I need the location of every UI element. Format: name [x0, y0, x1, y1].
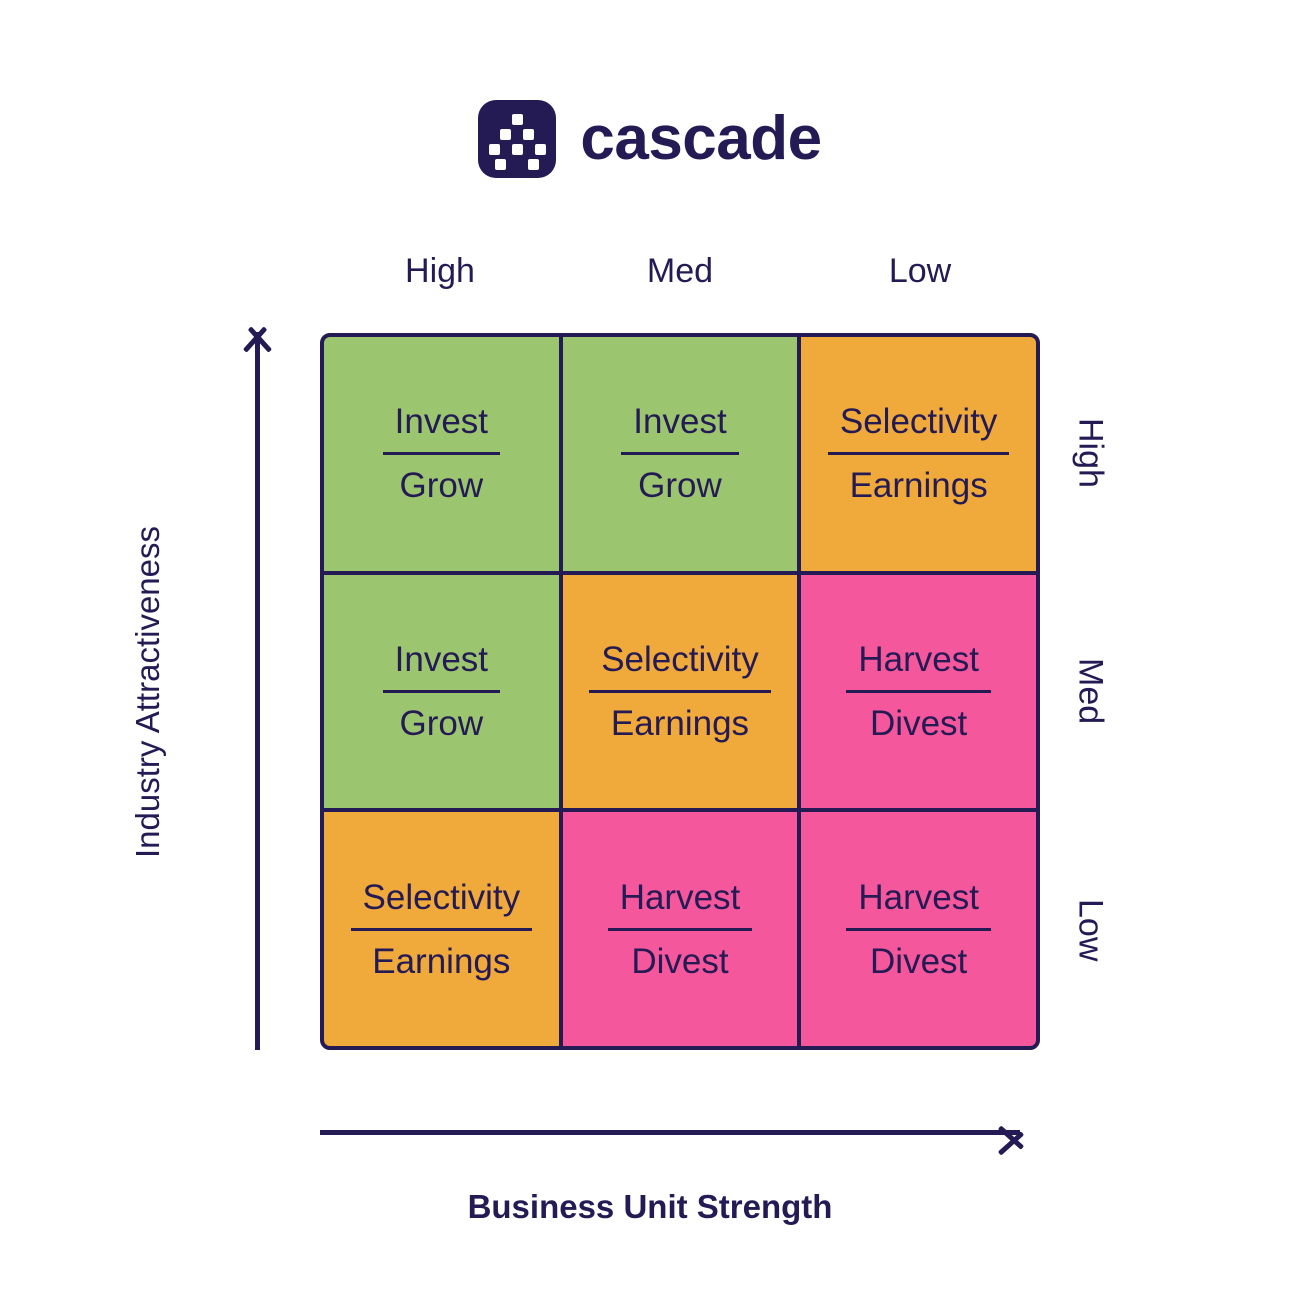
y-axis-shaft [255, 332, 260, 1050]
fraction-bar [383, 452, 500, 455]
row-label-med: Med [1071, 658, 1110, 724]
fraction-bar [589, 690, 771, 693]
fraction-bar [828, 452, 1010, 455]
arrow-up-icon [237, 318, 277, 1050]
matrix-cell-r2c1[interactable]: Harvest Divest [563, 812, 798, 1046]
x-axis-arrowhead [1006, 1116, 1042, 1150]
cell-denominator: Divest [619, 944, 740, 979]
cell-numerator: Invest [621, 404, 738, 439]
cell-fraction: Invest Grow [383, 642, 500, 741]
brand-header: cascade [0, 100, 1300, 178]
cascade-pyramid-dots-icon [478, 100, 556, 178]
fraction-bar [608, 928, 753, 931]
cell-numerator: Invest [383, 404, 500, 439]
matrix-cell-r1c1[interactable]: Selectivity Earnings [563, 575, 798, 809]
matrix-cell-r1c0[interactable]: Invest Grow [324, 575, 559, 809]
fraction-bar [846, 928, 991, 931]
cell-fraction: Invest Grow [383, 404, 500, 503]
row-label-med-wrap: Med [1060, 572, 1120, 811]
column-header-low: Low [800, 252, 1040, 291]
row-label-low: Low [1071, 899, 1110, 961]
row-label-high-wrap: High [1060, 333, 1120, 572]
cell-numerator: Harvest [846, 880, 991, 915]
matrix-cell-r2c0[interactable]: Selectivity Earnings [324, 812, 559, 1046]
cell-denominator: Divest [858, 944, 979, 979]
fraction-bar [846, 690, 991, 693]
cell-fraction: Harvest Divest [846, 880, 991, 979]
cell-fraction: Invest Grow [621, 404, 738, 503]
x-axis-shaft [320, 1130, 1020, 1135]
cell-numerator: Harvest [846, 642, 991, 677]
ge-mckinsey-matrix: Invest Grow Invest Grow Selectivity Earn… [320, 333, 1040, 1050]
cell-numerator: Selectivity [351, 880, 533, 915]
y-axis-label: Industry Attractiveness [129, 526, 167, 858]
row-labels: High Med Low [1060, 333, 1120, 1050]
cell-fraction: Harvest Divest [608, 880, 753, 979]
fraction-bar [383, 690, 500, 693]
matrix-cell-r1c2[interactable]: Harvest Divest [801, 575, 1036, 809]
cell-denominator: Earnings [360, 944, 522, 979]
cell-fraction: Selectivity Earnings [589, 642, 771, 741]
cell-fraction: Selectivity Earnings [351, 880, 533, 979]
cell-denominator: Divest [858, 706, 979, 741]
cell-numerator: Selectivity [828, 404, 1010, 439]
matrix-cell-r2c2[interactable]: Harvest Divest [801, 812, 1036, 1046]
cell-numerator: Harvest [608, 880, 753, 915]
matrix-cell-r0c2[interactable]: Selectivity Earnings [801, 337, 1036, 571]
cell-numerator: Invest [383, 642, 500, 677]
y-axis-arrowhead [241, 326, 274, 359]
cell-denominator: Earnings [599, 706, 761, 741]
cell-numerator: Selectivity [589, 642, 771, 677]
column-header-med: Med [560, 252, 800, 291]
cell-denominator: Grow [388, 468, 496, 503]
x-axis-label: Business Unit Strength [0, 1188, 1300, 1226]
fraction-bar [351, 928, 533, 931]
cell-fraction: Selectivity Earnings [828, 404, 1010, 503]
column-headers: High Med Low [320, 252, 1040, 291]
matrix-cell-r0c0[interactable]: Invest Grow [324, 337, 559, 571]
cell-fraction: Harvest Divest [846, 642, 991, 741]
matrix-cell-r0c1[interactable]: Invest Grow [563, 337, 798, 571]
column-header-high: High [320, 252, 560, 291]
arrow-right-icon [320, 1110, 1042, 1160]
cell-denominator: Grow [388, 706, 496, 741]
row-label-low-wrap: Low [1060, 811, 1120, 1050]
y-axis-label-wrap: Industry Attractiveness [118, 333, 178, 1050]
cell-denominator: Earnings [838, 468, 1000, 503]
cell-denominator: Grow [626, 468, 734, 503]
brand-wordmark: cascade [580, 108, 821, 170]
row-label-high: High [1071, 418, 1110, 488]
fraction-bar [621, 452, 738, 455]
